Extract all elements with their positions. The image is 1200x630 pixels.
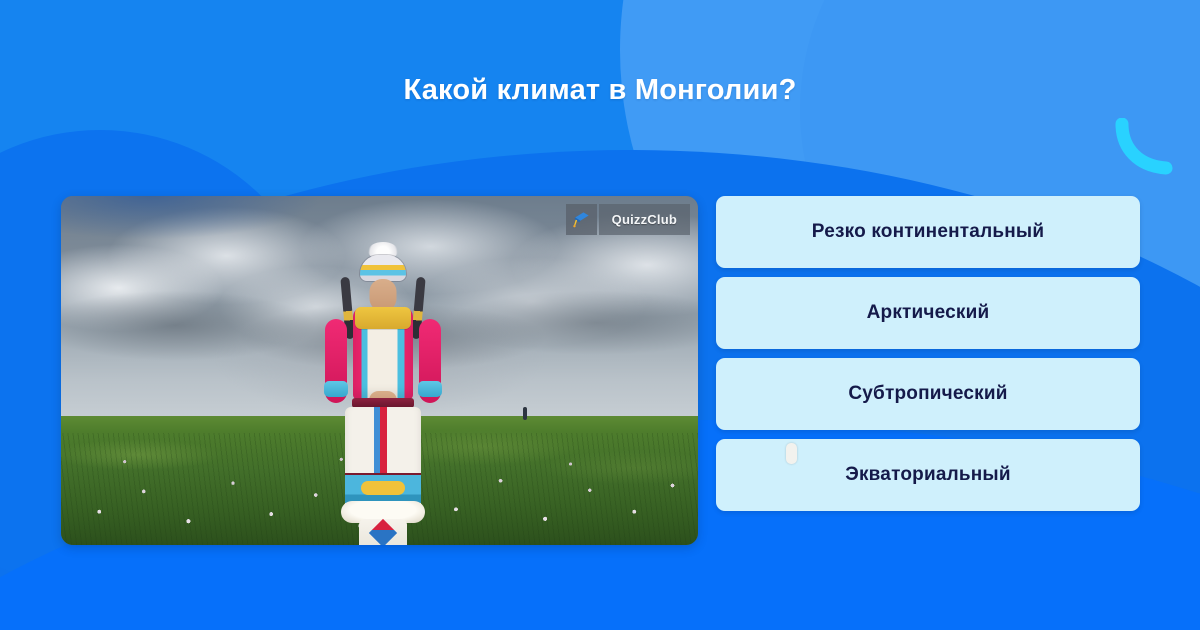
question-image-card: QuizzClub: [61, 196, 698, 545]
skirt-hem: [345, 473, 421, 503]
woman-in-traditional-dress: [327, 255, 439, 541]
traditional-hat: [360, 255, 406, 281]
gold-collar: [355, 307, 411, 329]
answer-options-list: Резко континентальный Арктический Субтро…: [716, 196, 1140, 511]
answer-option-4[interactable]: Экваториальный: [716, 439, 1140, 511]
blue-sky-patch: [61, 196, 354, 252]
cuff-left: [324, 381, 348, 397]
distant-person: [523, 407, 527, 420]
quiz-card: Какой климат в Монголии?: [0, 0, 1200, 630]
watermark-label: QuizzClub: [599, 204, 690, 235]
watermark-badge: QuizzClub: [566, 204, 690, 235]
answer-option-1[interactable]: Резко континентальный: [716, 196, 1140, 268]
graduation-cap-icon: [566, 204, 597, 235]
photo-scene: [61, 196, 698, 545]
text-caret: [786, 443, 797, 464]
cyan-crescent-arc-icon: [1114, 118, 1178, 176]
boots: [359, 519, 407, 545]
page-title: Какой климат в Монголии?: [0, 74, 1200, 107]
cuff-right: [418, 381, 442, 397]
answer-option-3[interactable]: Субтропический: [716, 358, 1140, 430]
answer-option-2[interactable]: Арктический: [716, 277, 1140, 349]
